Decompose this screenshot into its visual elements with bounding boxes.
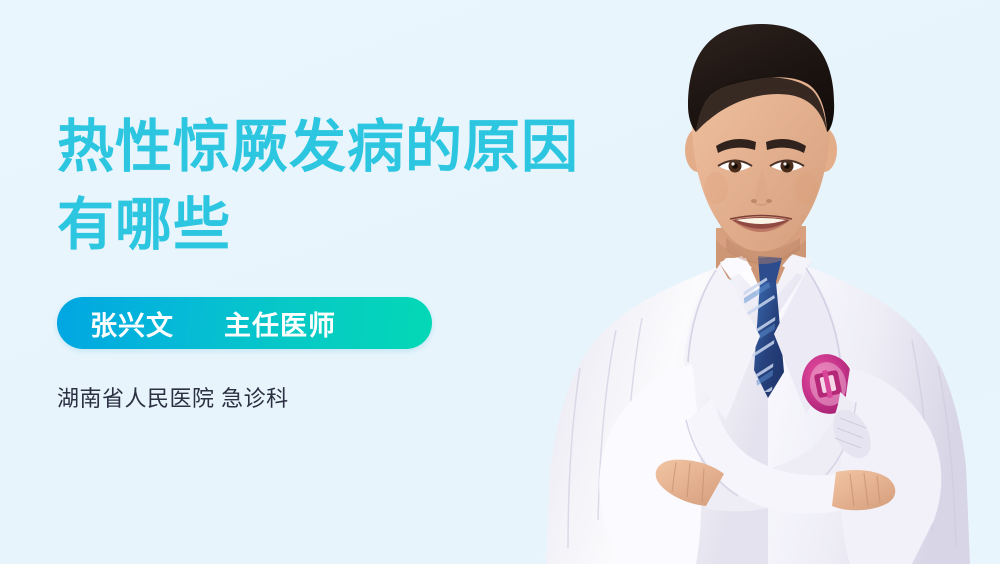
headline-line-2: 有哪些 bbox=[57, 186, 617, 264]
medical-article-card: 热性惊厥发病的原因 有哪些 张兴文 主任医师 湖南省人民医院 急诊科 bbox=[0, 0, 1000, 564]
page-title: 热性惊厥发病的原因 有哪些 bbox=[57, 108, 617, 264]
doctor-portrait-image bbox=[520, 0, 1000, 564]
doctor-name: 张兴文 bbox=[90, 304, 174, 343]
doctor-title-rank: 主任医师 bbox=[224, 304, 336, 343]
headline-line-1: 热性惊厥发病的原因 bbox=[57, 108, 617, 186]
headline-block: 热性惊厥发病的原因 有哪些 bbox=[57, 108, 617, 264]
affiliation-text: 湖南省人民医院 急诊科 bbox=[57, 381, 289, 413]
doctor-credential-badge: 张兴文 主任医师 bbox=[57, 297, 432, 349]
